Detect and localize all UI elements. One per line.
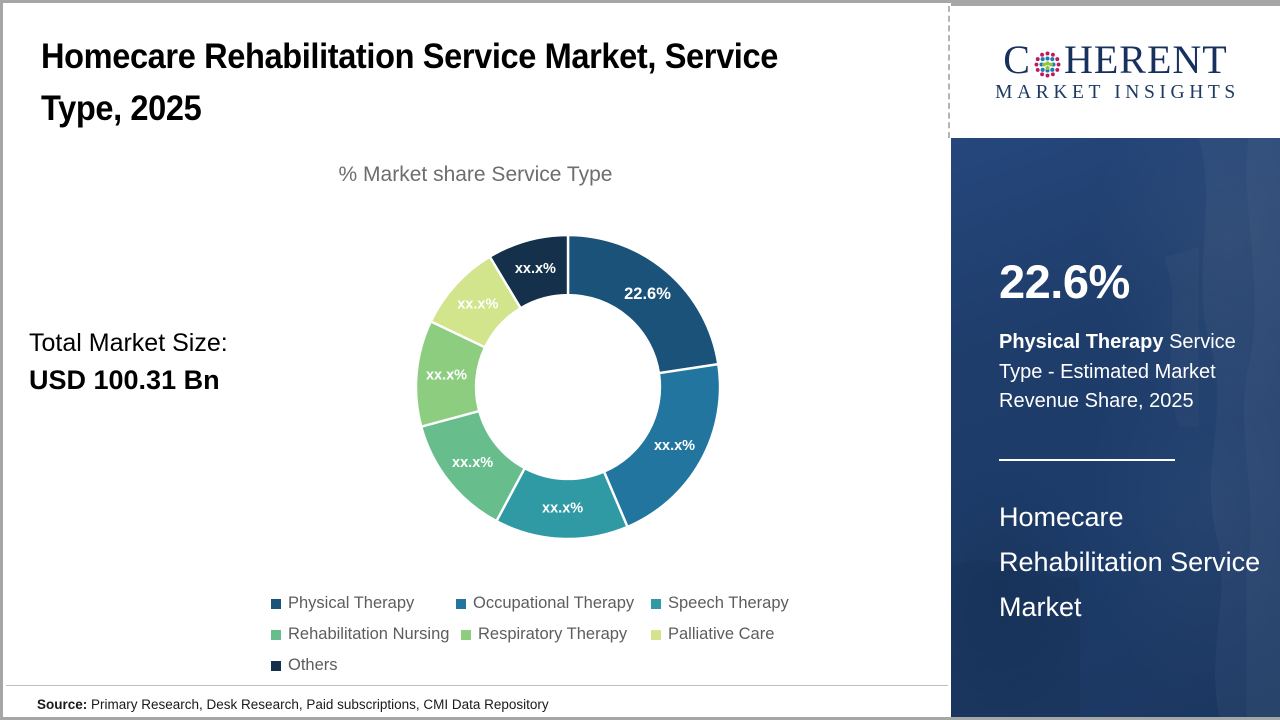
donut-slice-label: xx.x% — [426, 368, 467, 384]
right-sidebar-panel: C — [951, 3, 1280, 720]
legend-item-physical-therapy[interactable]: Physical Therapy — [271, 594, 456, 613]
source-note: Source: Primary Research, Desk Research,… — [37, 697, 549, 712]
legend-row: Rehabilitation Nursing Respiratory Thera… — [271, 619, 871, 650]
legend-item-respiratory-therapy[interactable]: Respiratory Therapy — [461, 625, 651, 644]
chart-legend: Physical Therapy Occupational Therapy Sp… — [271, 588, 871, 681]
legend-item-others[interactable]: Others — [271, 656, 338, 675]
legend-swatch-icon — [651, 599, 661, 609]
legend-item-palliative-care[interactable]: Palliative Care — [651, 625, 774, 644]
market-name-label: Homecare Rehabilitation Service Market — [999, 495, 1267, 630]
chart-subtitle: % Market share Service Type — [3, 163, 948, 187]
total-market-size-block: Total Market Size: USD 100.31 Bn — [29, 325, 228, 400]
legend-swatch-icon — [651, 630, 661, 640]
donut-slice-label: 22.6% — [624, 285, 671, 303]
legend-swatch-icon — [271, 630, 281, 640]
legend-label: Respiratory Therapy — [478, 625, 627, 644]
highlight-description-bold: Physical Therapy — [999, 331, 1164, 353]
brand-logo: C — [951, 3, 1280, 138]
page-title: Homecare Rehabilitation Service Market, … — [41, 31, 859, 135]
donut-slice[interactable] — [568, 235, 718, 373]
legend-label: Others — [288, 656, 338, 675]
legend-label: Occupational Therapy — [473, 594, 634, 613]
source-divider — [6, 685, 948, 686]
logo-letter-c: C — [1003, 40, 1031, 80]
legend-label: Speech Therapy — [668, 594, 789, 613]
donut-slice-label: xx.x% — [515, 261, 556, 277]
source-label: Source: — [37, 697, 87, 712]
infographic-root: Homecare Rehabilitation Service Market, … — [0, 0, 1280, 720]
donut-slice-label: xx.x% — [457, 297, 498, 313]
legend-swatch-icon — [271, 661, 281, 671]
logo-letters-herent: HERENT — [1064, 40, 1228, 80]
highlight-panel: 22.6% Physical Therapy Service Type - Es… — [951, 138, 1280, 720]
legend-swatch-icon — [461, 630, 471, 640]
source-text: Primary Research, Desk Research, Paid su… — [87, 697, 548, 712]
vertical-dashed-divider — [948, 6, 950, 138]
donut-slice-label: xx.x% — [542, 501, 583, 517]
legend-row: Physical Therapy Occupational Therapy Sp… — [271, 588, 871, 619]
donut-slice-label: xx.x% — [452, 455, 493, 471]
highlight-divider-rule — [999, 459, 1175, 461]
legend-item-speech-therapy[interactable]: Speech Therapy — [651, 594, 789, 613]
highlight-description: Physical Therapy Service Type - Estimate… — [999, 328, 1255, 417]
legend-swatch-icon — [456, 599, 466, 609]
highlight-percentage: 22.6% — [999, 258, 1130, 305]
legend-label: Palliative Care — [668, 625, 774, 644]
legend-item-rehabilitation-nursing[interactable]: Rehabilitation Nursing — [271, 625, 461, 644]
panel-background-texture — [951, 138, 1280, 720]
left-content-panel: Homecare Rehabilitation Service Market, … — [3, 3, 948, 720]
legend-item-occupational-therapy[interactable]: Occupational Therapy — [456, 594, 651, 613]
donut-chart-svg: 22.6%xx.x%xx.x%xx.x%xx.x%xx.x%xx.x% — [403, 217, 733, 557]
logo-tagline: MARKET INSIGHTS — [991, 82, 1240, 104]
donut-slice-label: xx.x% — [654, 438, 695, 454]
legend-swatch-icon — [271, 599, 281, 609]
legend-label: Physical Therapy — [288, 594, 414, 613]
total-market-size-value: USD 100.31 Bn — [29, 361, 228, 399]
donut-slice-group — [416, 235, 720, 539]
donut-chart: 22.6%xx.x%xx.x%xx.x%xx.x%xx.x%xx.x% — [403, 217, 733, 557]
legend-label: Rehabilitation Nursing — [288, 625, 449, 644]
legend-row: Others — [271, 650, 871, 681]
logo-wordmark: C — [1003, 40, 1227, 80]
globe-dot-matrix-icon — [1032, 47, 1063, 78]
total-market-size-label: Total Market Size: — [29, 325, 228, 361]
